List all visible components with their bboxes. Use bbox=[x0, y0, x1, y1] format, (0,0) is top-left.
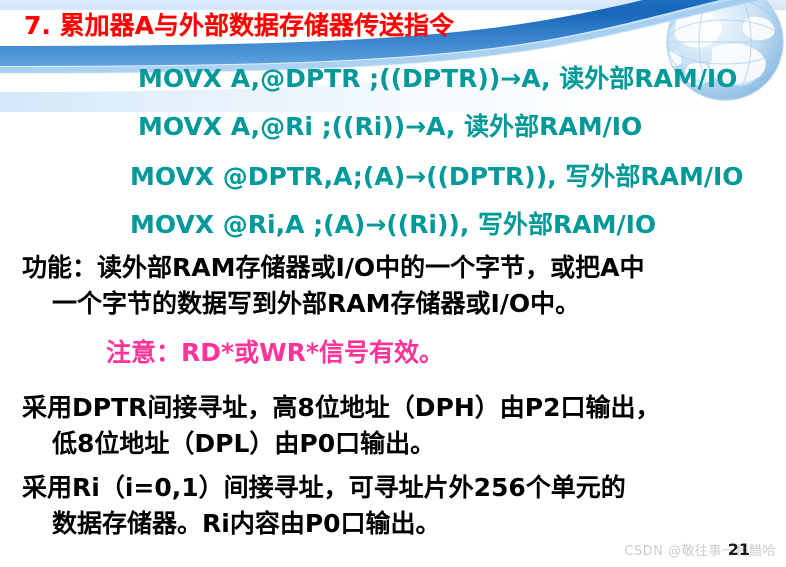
note-text: 注意：RD*或WR*信号有效。 bbox=[106, 335, 766, 371]
slide-canvas: 7. 累加器A与外部数据存储器传送指令 MOVX A,@DPTR ;((DPTR… bbox=[0, 0, 786, 567]
function-paragraph-line1: 功能：读外部RAM存储器或I/O中的一个字节，或把A中 bbox=[22, 250, 782, 286]
instruction-line-movx-ri-a: MOVX @Ri,A ;(A)→((Ri)), 写外部RAM/IO bbox=[130, 206, 656, 244]
page-title: 7. 累加器A与外部数据存储器传送指令 bbox=[24, 12, 454, 41]
ri-paragraph-line2: 数据存储器。Ri内容由P0口输出。 bbox=[22, 506, 782, 542]
page-number: 21 bbox=[728, 540, 750, 559]
instruction-line-movx-a-dptr: MOVX A,@DPTR ;((DPTR))→A, 读外部RAM/IO bbox=[138, 60, 737, 98]
ri-paragraph: 采用Ri（i=0,1）间接寻址，可寻址片外256个单元的 数据存储器。Ri内容由… bbox=[22, 470, 782, 542]
note-paragraph: 注意：RD*或WR*信号有效。 bbox=[106, 335, 766, 371]
ri-paragraph-line1: 采用Ri（i=0,1）间接寻址，可寻址片外256个单元的 bbox=[22, 470, 782, 506]
function-paragraph: 功能：读外部RAM存储器或I/O中的一个字节，或把A中 一个字节的数据写到外部R… bbox=[22, 250, 782, 322]
csdn-watermark: CSDN @敬往事一杯醋哈 bbox=[624, 540, 776, 559]
dptr-paragraph-line2: 低8位地址（DPL）由P0口输出。 bbox=[22, 426, 782, 462]
dptr-paragraph: 采用DPTR间接寻址，高8位地址（DPH）由P2口输出， 低8位地址（DPL）由… bbox=[22, 390, 782, 462]
function-paragraph-line2: 一个字节的数据写到外部RAM存储器或I/O中。 bbox=[22, 286, 782, 322]
dptr-paragraph-line1: 采用DPTR间接寻址，高8位地址（DPH）由P2口输出， bbox=[22, 390, 782, 426]
instruction-line-movx-dptr-a: MOVX @DPTR,A;(A)→((DPTR)), 写外部RAM/IO bbox=[130, 158, 744, 196]
instruction-line-movx-a-ri: MOVX A,@Ri ;((Ri))→A, 读外部RAM/IO bbox=[138, 108, 642, 146]
